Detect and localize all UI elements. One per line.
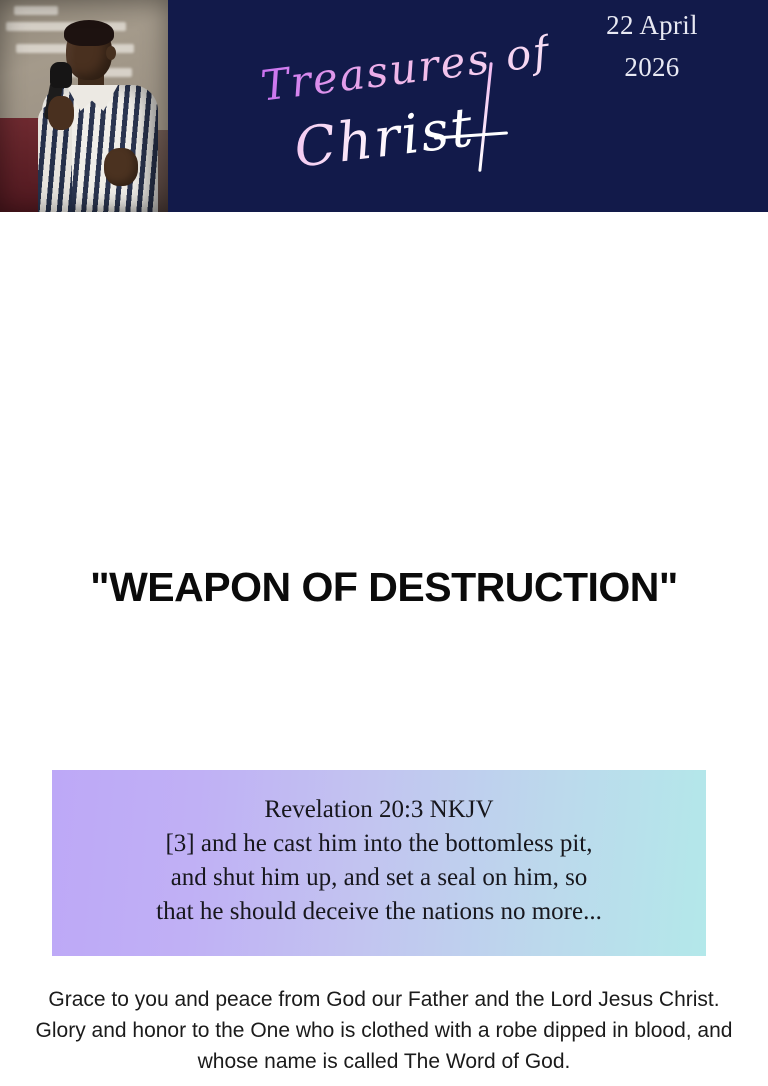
header-date: 22 April 2026 [562, 4, 742, 88]
speaker-hand-holding-mic [48, 96, 74, 130]
date-day-month: 22 April [562, 4, 742, 46]
page-root: Treasures of Christ 22 April 2026 "WEAPO… [0, 0, 768, 1086]
header-band: Treasures of Christ 22 April 2026 [0, 0, 768, 212]
speaker-gesturing-hand [104, 148, 138, 186]
brand-logo: Treasures of Christ [236, 14, 556, 206]
microphone-icon [50, 62, 72, 88]
page-title: "WEAPON OF DESTRUCTION" [0, 564, 768, 611]
scripture-box: Revelation 20:3 NKJV [3] and he cast him… [52, 770, 706, 956]
speaker-photo [0, 0, 168, 212]
screen-text-line [14, 6, 58, 15]
speaker-hair [64, 20, 114, 46]
date-year: 2026 [562, 46, 742, 88]
scripture-reference: Revelation 20:3 NKJV [264, 793, 493, 827]
speaker-ear [106, 46, 116, 60]
closing-paragraph: Grace to you and peace from God our Fath… [22, 984, 746, 1077]
scripture-body: [3] and he cast him into the bottomless … [156, 827, 602, 929]
brand-name-line-1: Treasures of [258, 26, 553, 110]
brand-name-line-2: Christ [291, 95, 478, 180]
